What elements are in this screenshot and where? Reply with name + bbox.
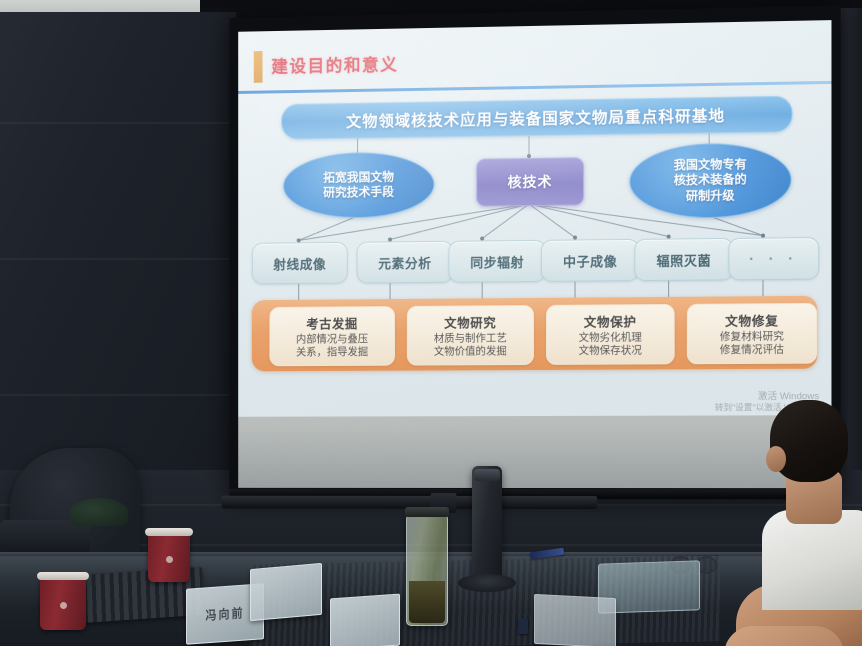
person-arm (724, 626, 844, 646)
tag-neutron-imaging: 中子成像 (541, 239, 639, 282)
header-accent-bar (254, 51, 263, 83)
card-relic-research: 文物研究 材质与制作工艺文物价值的发掘 (407, 305, 534, 366)
node-equipment-upgrade: 我国文物专有核技术装备的研制升级 (629, 142, 791, 219)
person-ear (766, 446, 786, 472)
tag-more-ellipsis: · · · (728, 237, 819, 280)
header-rule (238, 81, 831, 94)
placard-4 (534, 594, 616, 646)
slide-main-title-text: 文物领域核技术应用与装备国家文物局重点科研基地 (346, 104, 725, 132)
card-relic-protection: 文物保护 文物劣化机理文物保存状况 (546, 304, 675, 365)
card-3-lines: 修复材料研究修复情况评估 (720, 331, 784, 357)
paper-cup-right (148, 534, 190, 582)
tag-irradiation-sterilization: 辐照灭菌 (634, 238, 733, 281)
application-band: 考古发掘 内部情况与叠压关系，指导发掘 文物研究 材质与制作工艺文物价值的发掘 … (252, 296, 817, 372)
plant (70, 498, 128, 526)
node-center-label: 核技术 (508, 172, 553, 193)
placard-2 (250, 563, 322, 621)
card-1-lines: 材质与制作工艺文物价值的发掘 (434, 332, 507, 358)
pen-cap (518, 618, 528, 634)
technique-tag-row: 射线成像 元素分析 同步辐射 中子成像 辐照灭菌 · · · (252, 237, 817, 282)
glass-tea-jar (406, 514, 448, 626)
card-0-lines: 内部情况与叠压关系，指导发掘 (296, 333, 368, 359)
person-shirt (762, 510, 862, 610)
node-left-label: 拓宽我国文物研究技术手段 (323, 169, 394, 200)
slide-main-title: 文物领域核技术应用与装备国家文物局重点科研基地 (281, 96, 792, 140)
node-right-label: 我国文物专有核技术装备的研制升级 (674, 157, 747, 204)
tag-ray-imaging: 射线成像 (252, 242, 348, 284)
card-2-lines: 文物劣化机理文物保存状况 (579, 332, 642, 358)
seated-person (742, 398, 862, 646)
card-relic-restoration: 文物修复 修复材料研究修复情况评估 (687, 303, 817, 364)
tag-synchrotron: 同步辐射 (448, 240, 546, 283)
node-nuclear-technology: 核技术 (476, 157, 584, 206)
slide-heading: 建设目的和意义 (271, 50, 398, 77)
card-archaeological-excavation: 考古发掘 内部情况与叠压关系，指导发掘 (269, 306, 395, 366)
conference-room-scene: 建设目的和意义 (0, 0, 862, 646)
tag-element-analysis: 元素分析 (357, 241, 454, 284)
node-broaden-research: 拓宽我国文物研究技术手段 (283, 151, 434, 218)
paper-cup-left (40, 578, 86, 630)
desk-microphone[interactable] (472, 466, 502, 584)
placard-3 (330, 594, 400, 646)
presentation-slide: 建设目的和意义 (238, 20, 831, 417)
